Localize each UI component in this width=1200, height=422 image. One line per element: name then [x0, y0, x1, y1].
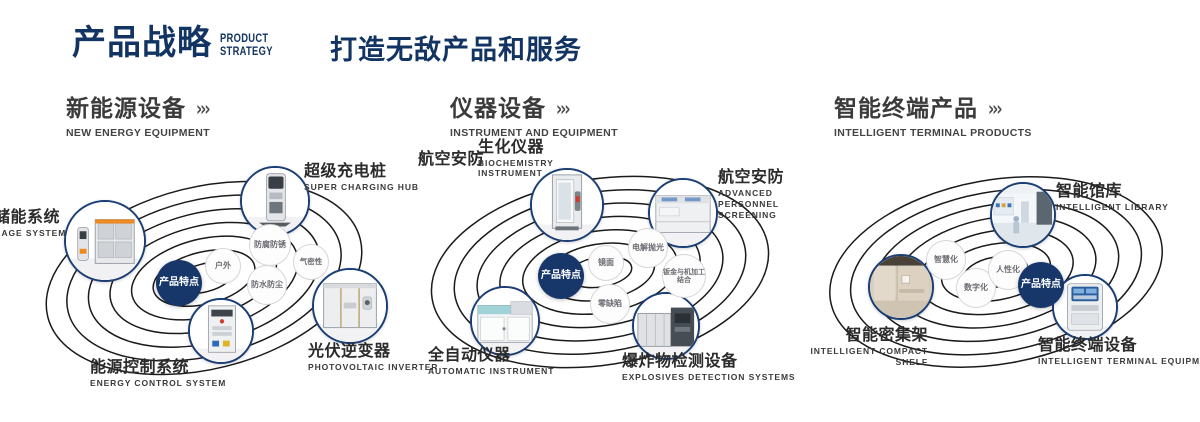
page-title-cn: 产品战略: [72, 26, 212, 60]
node-biochemistry-instrument[interactable]: [530, 168, 604, 242]
feature-core-bubble: 产品特点: [1018, 262, 1064, 308]
caption-cn: 储能系统: [0, 208, 60, 226]
caption-intelligent-compact-shelf: 智能密集架 INTELLIGENT COMPACT SHELF: [778, 326, 928, 368]
caption-intelligent-library: 智能馆库 INTELLIGENT LIBRARY: [1056, 182, 1169, 213]
caption-aviation-security-left: 航空安防: [418, 150, 484, 168]
page-slogan: 打造无敌产品和服务: [330, 36, 582, 66]
page-header: 产品战略 PRODUCT STRATEGY: [72, 26, 288, 60]
feature-bubble: 户外: [205, 248, 241, 284]
section-title-cn: 仪器设备: [450, 96, 546, 122]
inverter-cabinet-icon: [314, 270, 386, 342]
caption-en: BIOCHEMISTRY INSTRUMENT: [478, 158, 536, 178]
feature-bubble: 气密性: [293, 244, 329, 280]
page-title-en: PRODUCT STRATEGY: [220, 32, 273, 58]
caption-energy-storage: 储能系统 ENERGY STORAGE SYSTEM: [0, 208, 60, 239]
feature-bubble: 零缺陷: [590, 284, 630, 324]
caption-cn: 智能终端设备: [1038, 336, 1200, 354]
cluster-new-energy: 储能系统 ENERGY STORAGE SYSTEM 超级充电桩 SUPER C…: [8, 150, 408, 400]
node-intelligent-compact-shelf[interactable]: [868, 254, 934, 320]
feature-bubble: 钣金与机加工结合: [662, 254, 706, 298]
caption-en: EXPLOSIVES DETECTION SYSTEMS: [622, 372, 796, 383]
chevrons-icon: ›››: [988, 91, 1001, 126]
caption-cn: 航空安防: [418, 150, 484, 168]
chevrons-icon: ›››: [196, 91, 209, 126]
section-title-cn: 新能源设备: [66, 96, 186, 122]
feature-core-bubble: 产品特点: [538, 253, 584, 299]
cluster-intelligent-terminal: 智能馆库 INTELLIGENT LIBRARY 智能密集架 INTELLIGE…: [800, 150, 1200, 400]
compact-shelf-icon: [870, 256, 932, 318]
control-cabinet-icon: [190, 300, 252, 362]
feature-bubble: 防水防尘: [247, 265, 287, 305]
feature-bubble: 镜面: [588, 245, 624, 281]
biochemistry-scanner-icon: [532, 170, 602, 240]
library-room-icon: [992, 184, 1054, 246]
section-title-en: NEW ENERGY EQUIPMENT: [66, 127, 210, 139]
caption-cn: 爆炸物检测设备: [622, 352, 796, 370]
caption-explosives-detection: 爆炸物检测设备 EXPLOSIVES DETECTION SYSTEMS: [622, 352, 796, 383]
caption-cn: 智能密集架: [778, 326, 928, 344]
caption-cn: 全自动仪器: [428, 346, 554, 364]
caption-cn: 生化仪器: [478, 138, 544, 156]
infographic-page: 产品战略 PRODUCT STRATEGY 打造无敌产品和服务 新能源设备 ››…: [0, 0, 1200, 422]
caption-cn: 智能馆库: [1056, 182, 1169, 200]
node-photovoltaic-inverter[interactable]: [312, 268, 388, 344]
node-energy-control-system[interactable]: [188, 298, 254, 364]
caption-cn: 能源控制系统: [90, 358, 226, 376]
node-intelligent-library[interactable]: [990, 182, 1056, 248]
caption-en: INTELLIGENT LIBRARY: [1056, 202, 1169, 213]
section-heading-new-energy: 新能源设备 ››› NEW ENERGY EQUIPMENT: [66, 96, 210, 139]
feature-bubble: 电解抛光: [628, 228, 668, 268]
chevrons-icon: ›››: [556, 91, 569, 126]
section-heading-intelligent-terminal: 智能终端产品 ››› INTELLIGENT TERMINAL PRODUCTS: [834, 96, 1032, 139]
caption-biochemistry-instrument: 生化仪器 BIOCHEMISTRY INSTRUMENT: [478, 138, 544, 178]
caption-en: ENERGY STORAGE SYSTEM: [0, 228, 60, 239]
section-title-cn: 智能终端产品: [834, 96, 978, 122]
caption-intelligent-terminal-equipment: 智能终端设备 INTELLIGENT TERMINAL EQUIPMENT: [1038, 336, 1200, 367]
section-heading-instrument: 仪器设备 ››› INSTRUMENT AND EQUIPMENT: [450, 96, 618, 139]
node-explosives-detection[interactable]: [632, 292, 700, 360]
caption-en: INTELLIGENT TERMINAL EQUIPMENT: [1038, 356, 1200, 367]
feature-core-bubble: 产品特点: [156, 260, 202, 306]
explosives-detector-icon: [634, 294, 698, 358]
node-energy-storage[interactable]: [64, 200, 146, 282]
caption-en: INTELLIGENT COMPACT SHELF: [778, 346, 928, 368]
page-title-en-line2: STRATEGY: [220, 45, 273, 58]
caption-energy-control-system: 能源控制系统 ENERGY CONTROL SYSTEM: [90, 358, 226, 389]
caption-en: AUTOMATIC INSTRUMENT: [428, 366, 554, 377]
caption-automatic-instrument: 全自动仪器 AUTOMATIC INSTRUMENT: [428, 346, 554, 377]
cluster-instrument: 航空安防 生化仪器 BIOCHEMISTRY INSTRUMENT 航空安防 A…: [400, 150, 800, 400]
battery-cabinet-icon: [66, 202, 144, 280]
feature-bubble: 防腐防锈: [249, 224, 291, 266]
caption-en: ENERGY CONTROL SYSTEM: [90, 378, 226, 389]
section-title-en: INTELLIGENT TERMINAL PRODUCTS: [834, 127, 1032, 139]
